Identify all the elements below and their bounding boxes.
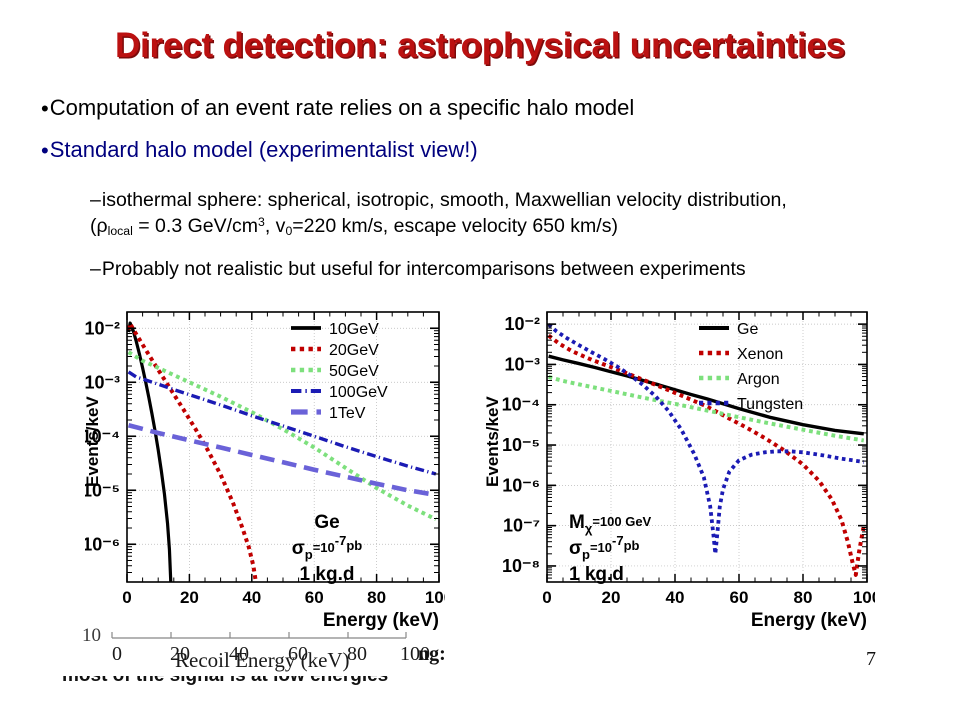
legend-label: Tungsten [737,396,803,413]
sub-bullet-1-text: isothermal sphere: spherical, isotropic,… [102,189,787,211]
dash-marker: – [90,189,101,211]
legend-label: Ge [737,321,758,338]
x-tick-label: 20 [602,588,621,607]
x-tick-label: 100 [425,588,445,607]
y-tick-label: 10⁻³ [504,354,540,374]
sub-bullet-1-line2: (ρlocal = 0.3 GeV/cm3, v0=220 km/s, esca… [90,214,787,240]
clipped-bottom-text: most of the signal is at low energies [62,676,462,687]
y-tick-label: 10⁻⁶ [85,534,120,554]
x-tick-label: 60 [730,588,749,607]
rho-symbol: ρ [97,215,108,237]
x-tick-label: 0 [542,588,551,607]
y-tick-label: 10⁻⁶ [502,475,540,495]
chart-svg-left: 02040608010010⁻²10⁻³10⁻⁴10⁻⁵10⁻⁶Energy (… [85,300,445,630]
chart-svg-right: 02040608010010⁻²10⁻³10⁻⁴10⁻⁵10⁻⁶10⁻⁷10⁻⁸… [485,300,875,630]
rho-subscript: local [108,224,133,238]
clipped-bottom-line: most of the signal is at low energies [62,676,462,690]
x-axis-label: Energy (keV) [323,610,439,630]
page-number: 7 [866,648,876,671]
bullet-text-1: Computation of an event rate relies on a… [50,95,635,120]
density-value: = 0.3 GeV/cm [133,215,258,237]
chart-annotation-line: 1 kg.d [569,564,624,585]
leftover-axis-title: Recoil Energy (keV) [175,648,350,673]
legend-label: 1TeV [329,405,366,422]
y-tick-label: 10⁻² [85,318,120,338]
bullet-item-2: •Standard halo model (experimentalist vi… [41,137,478,162]
y-tick-label: 10⁻⁵ [502,435,540,455]
chart-right-target-material: 02040608010010⁻²10⁻³10⁻⁴10⁻⁵10⁻⁶10⁻⁷10⁻⁸… [485,300,875,630]
cm-exponent: 3 [258,215,265,229]
page-title: Direct detection: astrophysical uncertai… [0,26,960,66]
chart-annotation-line: Ge [314,512,339,533]
x-tick-label: 40 [242,588,261,607]
y-tick-label: 10⁻⁷ [503,516,540,536]
y-tick-label: 10⁻⁴ [502,395,540,415]
legend-label: 100GeV [329,384,388,401]
x-tick-label: 40 [666,588,685,607]
slide: Direct detection: astrophysical uncertai… [0,0,960,720]
legend-label: 10GeV [329,321,379,338]
bullet-marker: • [41,140,49,162]
sub-bullet-2: –Probably not realistic but useful for i… [90,257,746,283]
sub-bullet-2-text: Probably not realistic but useful for in… [102,258,746,280]
leftover-axis-line [110,630,410,642]
x-axis-label: Energy (keV) [751,610,867,630]
bullet-marker: • [41,98,49,120]
leftover-tick-label: 0 [112,643,122,666]
y-axis-label: Events/keV [85,396,102,487]
y-tick-label: 10⁻² [504,314,540,334]
chart-left-wimp-mass: 02040608010010⁻²10⁻³10⁻⁴10⁻⁵10⁻⁶Energy (… [85,300,445,630]
velocity-values: =220 km/s, escape velocity 650 km/s) [292,215,618,237]
dash-marker: – [90,258,101,280]
bullet-text-2: Standard halo model (experimentalist vie… [50,137,478,162]
leftover-ylabel-fragment: 10 [82,625,101,647]
x-tick-label: 20 [180,588,199,607]
legend-label: Argon [737,371,780,388]
x-tick-label: 0 [122,588,131,607]
leftover-tick-label: 80 [347,643,367,666]
x-tick-label: 80 [794,588,813,607]
bullet-item-1: •Computation of an event rate relies on … [41,95,634,120]
x-tick-label: 60 [305,588,324,607]
sub-bullet-1: –isothermal sphere: spherical, isotropic… [90,188,787,240]
legend-label: 50GeV [329,363,379,380]
leftover-right-fragment: ng: [418,643,446,666]
v-symbol: , v [265,215,286,237]
y-tick-label: 10⁻⁸ [502,556,540,576]
chart-annotation-line: 1 kg.d [300,564,355,585]
y-axis-label: Events/keV [485,396,502,487]
x-tick-label: 100 [853,588,875,607]
legend-label: Xenon [737,346,783,363]
y-tick-label: 10⁻³ [85,372,120,392]
sub-bullet-1-line1: –isothermal sphere: spherical, isotropic… [90,188,787,214]
x-tick-label: 80 [367,588,386,607]
legend-label: 20GeV [329,342,379,359]
